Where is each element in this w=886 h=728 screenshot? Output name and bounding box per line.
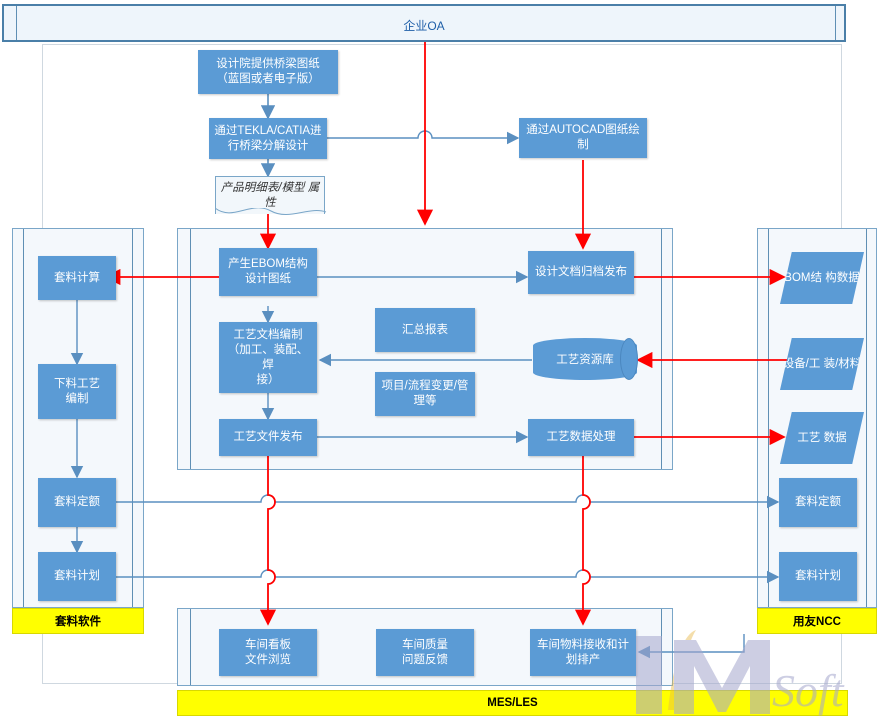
nesting-plan-label-right: 套料计划	[783, 569, 853, 584]
summary-report-box[interactable]: 汇总报表	[375, 308, 475, 352]
bom-structure-data-shape[interactable]: BOM结 构数据	[780, 252, 864, 304]
nesting-quota-label-left: 套料定额	[42, 495, 112, 510]
craft-doc-line1: 工艺文档编制	[223, 328, 313, 343]
change-mgmt-line1: 项目/流程变更/管	[379, 379, 471, 394]
equipment-material-shape[interactable]: 设备/工 装/材料	[780, 338, 864, 390]
craft-data-line1: 工艺	[797, 432, 820, 444]
cutting-process-box[interactable]: 下料工艺 编制	[38, 364, 116, 419]
cutting-process-line2: 编制	[42, 392, 112, 407]
tekla-line2: 行桥梁分解设计	[213, 139, 323, 154]
product-doc-line1: 产品明细表/模型	[221, 182, 305, 194]
change-management-box[interactable]: 项目/流程变更/管 理等	[375, 372, 475, 416]
yonyou-lane-divider-1	[768, 229, 769, 607]
enterprise-oa-banner: 企业OA	[2, 4, 846, 42]
craft-data-process-label: 工艺数据处理	[532, 430, 630, 445]
autocad-label: 通过AUTOCAD图纸绘制	[523, 123, 643, 153]
tekla-line1: 通过TEKLA/CATIA进	[213, 124, 323, 139]
nesting-lane-divider-2	[132, 229, 133, 607]
craft-data-line2: 数据	[824, 432, 847, 444]
plm-lane-divider-1	[190, 229, 191, 469]
autocad-box[interactable]: 通过AUTOCAD图纸绘制	[519, 118, 647, 158]
mes-label: MES/LES	[177, 690, 848, 716]
workshop-material-line2: 划排产	[534, 653, 632, 668]
workshop-kanban-line1: 车间看板	[223, 638, 313, 653]
nesting-quota-box-right[interactable]: 套料定额	[779, 478, 857, 527]
equipment-line2: 装/材料	[824, 358, 862, 370]
summary-report-label: 汇总报表	[379, 323, 471, 338]
yonyou-label: 用友NCC	[757, 608, 877, 634]
workshop-kanban-line2: 文件浏览	[223, 653, 313, 668]
craft-resource-db-label: 工艺资源库	[556, 351, 614, 367]
nesting-plan-box-right[interactable]: 套料计划	[779, 552, 857, 601]
ebom-line2: 设计图纸	[223, 272, 313, 287]
design-doc-release-box[interactable]: 设计文档归档发布	[528, 251, 634, 294]
design-drawing-line1: 设计院提供桥梁图纸	[202, 57, 334, 72]
craft-doc-line2: （加工、装配、焊	[223, 343, 313, 373]
diagram-canvas: 企业OA 套料软件 MES/LES 用友NCC	[0, 0, 886, 728]
workshop-quality-line1: 车间质量	[380, 638, 470, 653]
tekla-catia-box[interactable]: 通过TEKLA/CATIA进 行桥梁分解设计	[209, 118, 327, 159]
craft-data-process-box[interactable]: 工艺数据处理	[528, 419, 634, 456]
mes-lane-divider-1	[190, 609, 191, 685]
workshop-quality-line2: 问题反馈	[380, 653, 470, 668]
enterprise-oa-label: 企业OA	[4, 17, 844, 34]
bom-data-line2: 构数据	[825, 272, 860, 284]
craft-file-release-box[interactable]: 工艺文件发布	[219, 419, 317, 456]
craft-doc-compile-box[interactable]: 工艺文档编制 （加工、装配、焊 接）	[219, 322, 317, 393]
workshop-quality-box[interactable]: 车间质量 问题反馈	[376, 629, 474, 676]
change-mgmt-line2: 理等	[379, 394, 471, 409]
craft-resource-db-cylinder[interactable]: 工艺资源库	[533, 338, 637, 380]
ebom-line1: 产生EBOM结构	[223, 257, 313, 272]
craft-file-release-label: 工艺文件发布	[223, 430, 313, 445]
design-drawing-line2: （蓝图或者电子版）	[202, 72, 334, 87]
ebom-structure-box[interactable]: 产生EBOM结构 设计图纸	[219, 248, 317, 296]
cutting-process-line1: 下料工艺	[42, 377, 112, 392]
nesting-calculation-label: 套料计算	[42, 271, 112, 286]
mes-lane-divider-2	[661, 609, 662, 685]
craft-doc-line3: 接）	[223, 373, 313, 388]
design-doc-release-label: 设计文档归档发布	[532, 265, 630, 280]
bom-data-line1: BOM结	[784, 272, 822, 284]
product-doc-wave	[215, 208, 327, 222]
nesting-lane-divider-1	[23, 229, 24, 607]
nesting-calculation-box[interactable]: 套料计算	[38, 256, 116, 300]
nesting-plan-box-left[interactable]: 套料计划	[38, 552, 116, 601]
design-institute-drawing-box[interactable]: 设计院提供桥梁图纸 （蓝图或者电子版）	[198, 50, 338, 94]
plm-lane-divider-2	[661, 229, 662, 469]
nesting-quota-box-left[interactable]: 套料定额	[38, 478, 116, 527]
equipment-line1: 设备/工	[783, 358, 821, 370]
workshop-material-line1: 车间物料接收和计	[534, 638, 632, 653]
craft-data-shape[interactable]: 工艺 数据	[780, 412, 864, 464]
workshop-material-box[interactable]: 车间物料接收和计 划排产	[530, 629, 636, 676]
nesting-software-label: 套料软件	[12, 608, 144, 634]
workshop-kanban-box[interactable]: 车间看板 文件浏览	[219, 629, 317, 676]
nesting-plan-label-left: 套料计划	[42, 569, 112, 584]
nesting-quota-label-right: 套料定额	[783, 495, 853, 510]
yonyou-lane-divider-2	[866, 229, 867, 607]
